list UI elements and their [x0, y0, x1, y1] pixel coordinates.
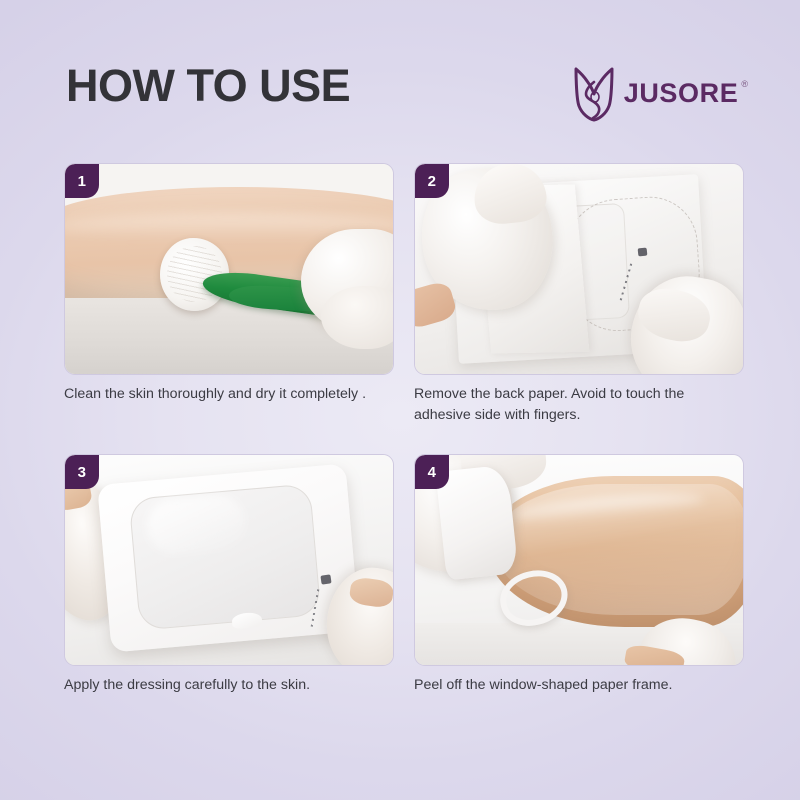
step-card-4: 4 Peel off the window-shaped paper frame… — [414, 454, 744, 696]
step-3-caption: Apply the dressing carefully to the skin… — [64, 675, 384, 696]
brand-text: JUSORE ® — [624, 78, 748, 108]
step-2-photo: 2 — [414, 163, 744, 375]
scene-apply-dressing — [65, 455, 393, 665]
step-card-3: 3 Apply the dressing carefully to the sk… — [64, 454, 394, 696]
step-number-badge-4: 4 — [415, 455, 449, 489]
step-card-1: 1 Clean the skin thoroughly and dry it c… — [64, 163, 394, 426]
dressing-print-mark — [320, 574, 331, 584]
how-to-use-infographic: HOW TO USE JUSORE ® — [0, 0, 800, 800]
step-number-badge-3: 3 — [65, 455, 99, 489]
registered-mark-icon: ® — [741, 79, 748, 89]
step-2-caption: Remove the back paper. Avoid to touch th… — [414, 384, 734, 426]
header: HOW TO USE JUSORE ® — [0, 0, 800, 150]
steps-grid: 1 Clean the skin thoroughly and dry it c… — [64, 163, 744, 696]
dressing-print-mark — [638, 248, 648, 257]
step-number-badge-1: 1 — [65, 164, 99, 198]
step-card-2: 2 Remove the back paper. Avoid to touch … — [414, 163, 744, 426]
scene-clean-skin — [65, 164, 393, 374]
step-number-badge-2: 2 — [415, 164, 449, 198]
step-4-caption: Peel off the window-shaped paper frame. — [414, 675, 734, 696]
scene-peel-paper-frame — [415, 455, 743, 665]
page-title: HOW TO USE — [66, 60, 350, 112]
tulip-shield-icon — [573, 64, 615, 122]
scene-remove-back-paper — [415, 164, 743, 374]
step-1-caption: Clean the skin thoroughly and dry it com… — [64, 384, 384, 405]
step-1-photo: 1 — [64, 163, 394, 375]
brand-logo: JUSORE ® — [573, 62, 748, 124]
brand-name: JUSORE — [624, 78, 739, 108]
step-3-photo: 3 — [64, 454, 394, 666]
step-4-photo: 4 — [414, 454, 744, 666]
